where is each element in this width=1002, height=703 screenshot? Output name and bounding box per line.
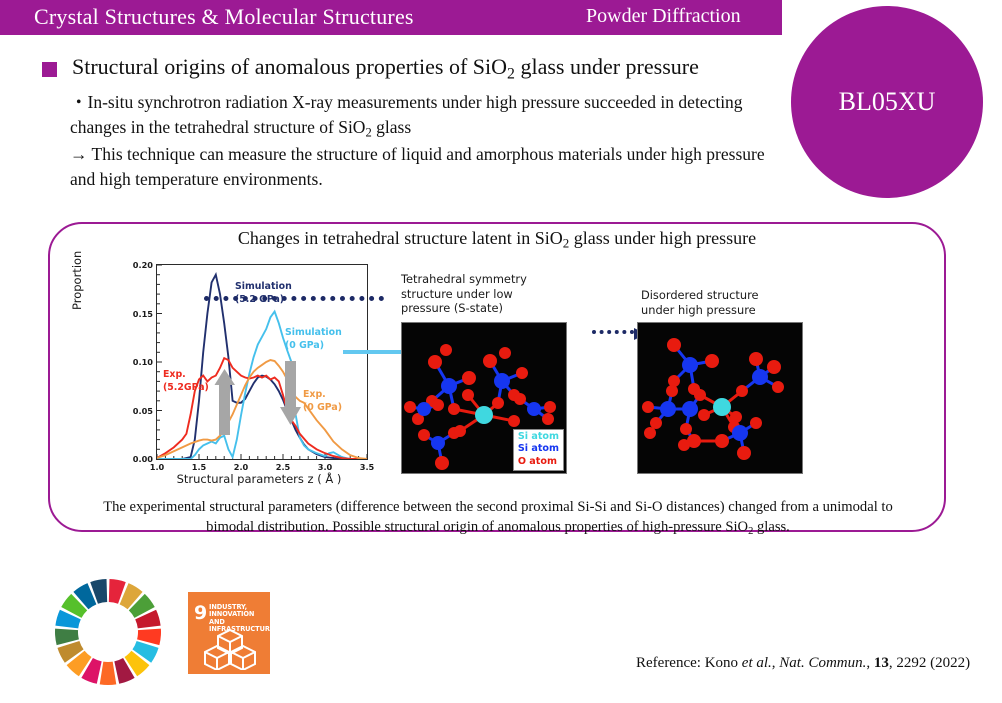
sdg-goal-number: 9	[194, 604, 207, 623]
reference-prefix: Reference: Kono	[636, 655, 742, 671]
reference-suffix: , 2292 (2022)	[889, 655, 970, 671]
right-caption-line1: Disordered structure	[641, 288, 811, 303]
sdg-wheel-svg	[53, 577, 163, 687]
legend-item-si-blue: Si atom	[518, 443, 559, 455]
sdg-goal-9-icon: 9 INDUSTRY, INNOVATION AND INFRASTRUCTUR…	[188, 592, 270, 674]
molecule-legend: Si atom Si atom O atom	[513, 429, 564, 471]
reference-et-al: et al.	[742, 655, 772, 671]
y-tick-2: 0.10	[133, 357, 153, 367]
series-label-simulation-0: Simulation (0 GPa)	[285, 327, 342, 352]
series-label-sim0-line2: (0 GPa)	[285, 340, 342, 353]
sdg-wheel-segment-9	[100, 662, 117, 685]
bullet-heading-post: glass under pressure	[515, 54, 699, 79]
reference-line: Reference: Kono et al., Nat. Commun., 13…	[636, 655, 970, 672]
cubes-icon	[202, 628, 258, 670]
beamline-label: BL05XU	[839, 87, 936, 117]
header-subtitle: Powder Diffraction	[586, 5, 741, 28]
left-molecule-caption: Tetrahedral symmetry structure under low…	[401, 272, 561, 316]
reference-mid2: ,	[866, 655, 874, 671]
figure-panel-title: Changes in tetrahedral structure latent …	[48, 228, 946, 252]
figure-caption: The experimental structural parameters (…	[78, 498, 918, 539]
x-tick-4: 3.0	[318, 462, 333, 472]
left-molecule-image: Si atom Si atom O atom	[401, 322, 567, 474]
y-tick-1: 0.05	[133, 406, 153, 416]
beamline-badge: BL05XU	[791, 6, 983, 198]
right-molecule-caption: Disordered structure under high pressure	[641, 288, 811, 317]
x-tick-5: 3.5	[360, 462, 375, 472]
y-tick-4: 0.20	[133, 260, 153, 270]
series-label-sim0-line1: Simulation	[285, 327, 342, 340]
series-label-exp52-line2: (5.2GPa)	[163, 382, 209, 395]
paragraph-2: → This technique can measure the structu…	[70, 142, 785, 192]
bullet-heading-pre: Structural origins of anomalous properti…	[72, 54, 507, 79]
right-molecule-svg	[638, 323, 802, 473]
sdg-goal-text-line1: INDUSTRY, INNOVATION	[209, 604, 267, 619]
left-caption-line3: pressure (S-state)	[401, 301, 561, 316]
right-caption-line2: under high pressure	[641, 303, 811, 318]
bullet-heading: Structural origins of anomalous properti…	[72, 54, 792, 83]
figure-title-pre: Changes in tetrahedral structure latent …	[238, 228, 563, 248]
cyan-arrow-icon	[343, 350, 405, 354]
distribution-chart: Proportion 0.00 0.05 0.10 0.15 0.20 1.0 …	[104, 258, 384, 490]
central-si-atom	[713, 398, 731, 416]
series-label-exp-52: Exp. (5.2GPa)	[163, 369, 209, 394]
y-tick-3: 0.15	[133, 309, 153, 319]
bullet-heading-sub: 2	[507, 65, 515, 82]
chart-plot-area: 0.00 0.05 0.10 0.15 0.20 1.0 1.5 2.0 2.5…	[156, 264, 368, 460]
series-label-exp0-line2: (0 GPa)	[303, 402, 342, 415]
paragraph-1: ・In-situ synchrotron radiation X-ray mea…	[70, 90, 785, 142]
dotted-connector-top	[204, 296, 384, 301]
right-molecule-image	[637, 322, 803, 474]
chart-y-axis-label: Proportion	[70, 251, 84, 310]
dotted-arrow-icon	[592, 330, 634, 334]
left-caption-line1: Tetrahedral symmetry	[401, 272, 561, 287]
paragraph-1-post: glass	[372, 117, 411, 137]
x-tick-2: 2.0	[234, 462, 249, 472]
legend-item-si-cyan: Si atom	[518, 431, 559, 443]
x-tick-3: 2.5	[276, 462, 291, 472]
page-title: Crystal Structures & Molecular Structure…	[34, 4, 414, 30]
x-tick-1: 1.5	[192, 462, 207, 472]
series-label-exp52-line1: Exp.	[163, 369, 209, 382]
sdg-wheel-logo	[53, 577, 163, 687]
series-label-exp0-line1: Exp.	[303, 389, 342, 402]
series-label-exp-0: Exp. (0 GPa)	[303, 389, 342, 414]
chart-x-axis-label: Structural parameters z ( Å )	[134, 472, 384, 486]
central-si-atom	[475, 406, 493, 424]
reference-volume: 13	[874, 655, 889, 671]
bullet-square-icon	[42, 62, 57, 77]
figure-caption-post: glass.	[753, 519, 789, 535]
series-label-simulation-52: Simulation (5.2 GPa)	[235, 281, 292, 306]
legend-item-o-red: O atom	[518, 456, 559, 468]
series-label-sim52-line1: Simulation	[235, 281, 292, 294]
figure-title-post: glass under high pressure	[569, 228, 756, 248]
up-arrow-icon	[215, 369, 236, 435]
body-paragraphs: ・In-situ synchrotron radiation X-ray mea…	[70, 90, 785, 192]
x-tick-0: 1.0	[150, 462, 165, 472]
left-caption-line2: structure under low	[401, 287, 561, 302]
reference-journal: Nat. Commun.	[779, 655, 866, 671]
